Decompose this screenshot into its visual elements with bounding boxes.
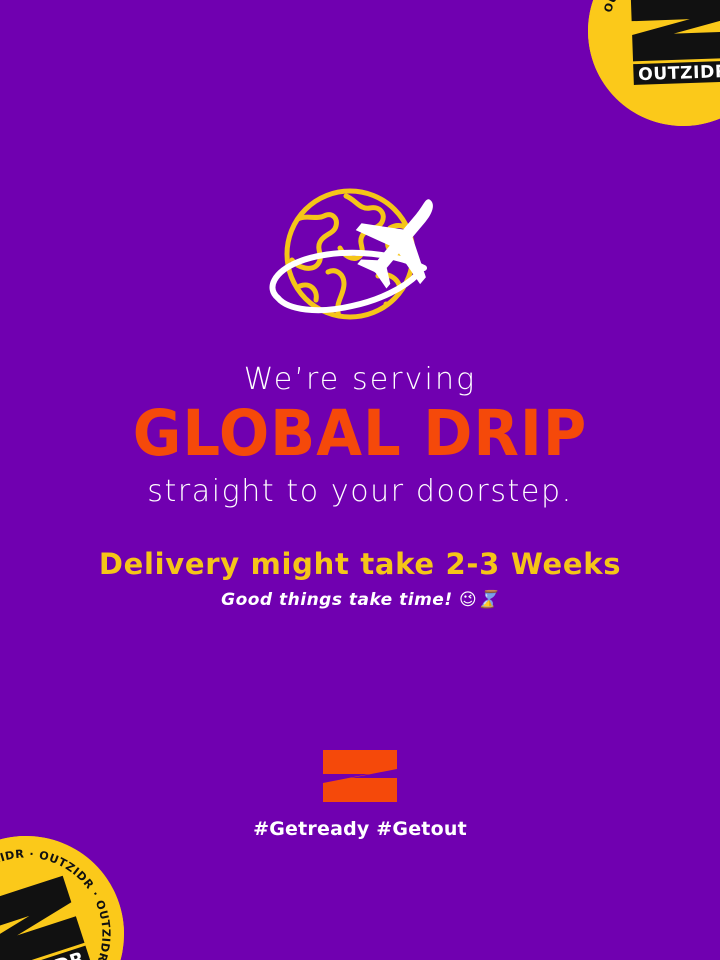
poster-canvas: OUTZIDR · OUTZIDR · OUTZIDR · OUTZIDR · … [0, 0, 720, 960]
brand-lockup: #Getready #Getout [0, 748, 720, 840]
kicker-line: We’re serving [0, 364, 720, 396]
headline-global-drip: GLOBAL DRIP [22, 402, 699, 466]
brand-seal-top-right: OUTZIDR · OUTZIDR · OUTZIDR · OUTZIDR · … [568, 0, 720, 146]
seal-monogram-group: OUTZIDR [631, 0, 720, 85]
delivery-notice-block: Delivery might take 2-3 Weeks Good thing… [0, 548, 720, 611]
delivery-time-text: Delivery might take 2-3 Weeks [0, 548, 720, 581]
subheadline-line: straight to your doorstep. [0, 475, 720, 508]
outzidr-z-monogram-icon [320, 748, 400, 804]
seal-wordmark-text: OUTZIDR [638, 62, 720, 85]
headline-block: We’re serving GLOBAL DRIP straight to yo… [0, 364, 720, 508]
delivery-reassurance-text: Good things take time! 😉⌛ [0, 590, 720, 610]
globe-with-airplane-icon [240, 176, 480, 342]
hashtag-tagline: #Getready #Getout [0, 818, 720, 840]
z-mark-shape [323, 750, 397, 802]
